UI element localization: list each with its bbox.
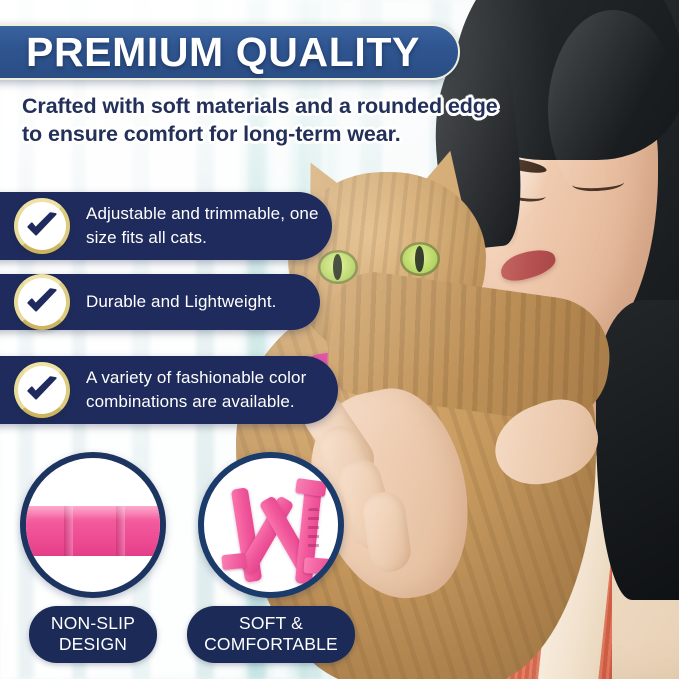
feature-bullet-label: Durable and Lightweight.: [86, 290, 276, 314]
page-title: PREMIUM QUALITY: [26, 29, 420, 76]
feature-label-soft-comfortable: SOFT & COMFORTABLE: [187, 606, 355, 663]
feature-callout-non-slip: NON-SLIP DESIGN: [20, 452, 166, 663]
pink-collar-m-shape-icon: [204, 458, 338, 592]
feature-bullet-1: Adjustable and trimmable, one size fits …: [0, 192, 332, 260]
collar-adjuster-slots: [308, 508, 319, 552]
cat-pupil: [415, 246, 424, 272]
product-feature-image: PREMIUM QUALITY Crafted with soft materi…: [0, 0, 679, 679]
strap-highlight: [20, 506, 166, 520]
collar-buckle: [221, 553, 246, 570]
subtitle-text: Crafted with soft materials and a rounde…: [22, 92, 522, 149]
collar-buckle: [295, 478, 327, 497]
cat-pupil: [333, 254, 342, 280]
feature-bullet-label: Adjustable and trimmable, one size fits …: [86, 202, 332, 250]
woman-hair-sheen: [548, 10, 678, 210]
feature-bullet-label: A variety of fashionable color combinati…: [86, 366, 338, 414]
headline-banner: PREMIUM QUALITY: [0, 24, 460, 80]
cat-eye-right: [400, 242, 440, 276]
check-icon: [14, 274, 70, 330]
collar-buckle: [303, 557, 330, 575]
feature-label-non-slip: NON-SLIP DESIGN: [29, 606, 157, 663]
feature-bullet-3: A variety of fashionable color combinati…: [0, 356, 338, 424]
check-icon: [14, 198, 70, 254]
product-closeup-circle-soft: [198, 452, 344, 598]
feature-bullet-2: Durable and Lightweight.: [0, 274, 320, 330]
product-closeup-circle-non-slip: [20, 452, 166, 598]
feature-callout-soft-comfortable: SOFT & COMFORTABLE: [198, 452, 355, 663]
check-icon: [14, 362, 70, 418]
